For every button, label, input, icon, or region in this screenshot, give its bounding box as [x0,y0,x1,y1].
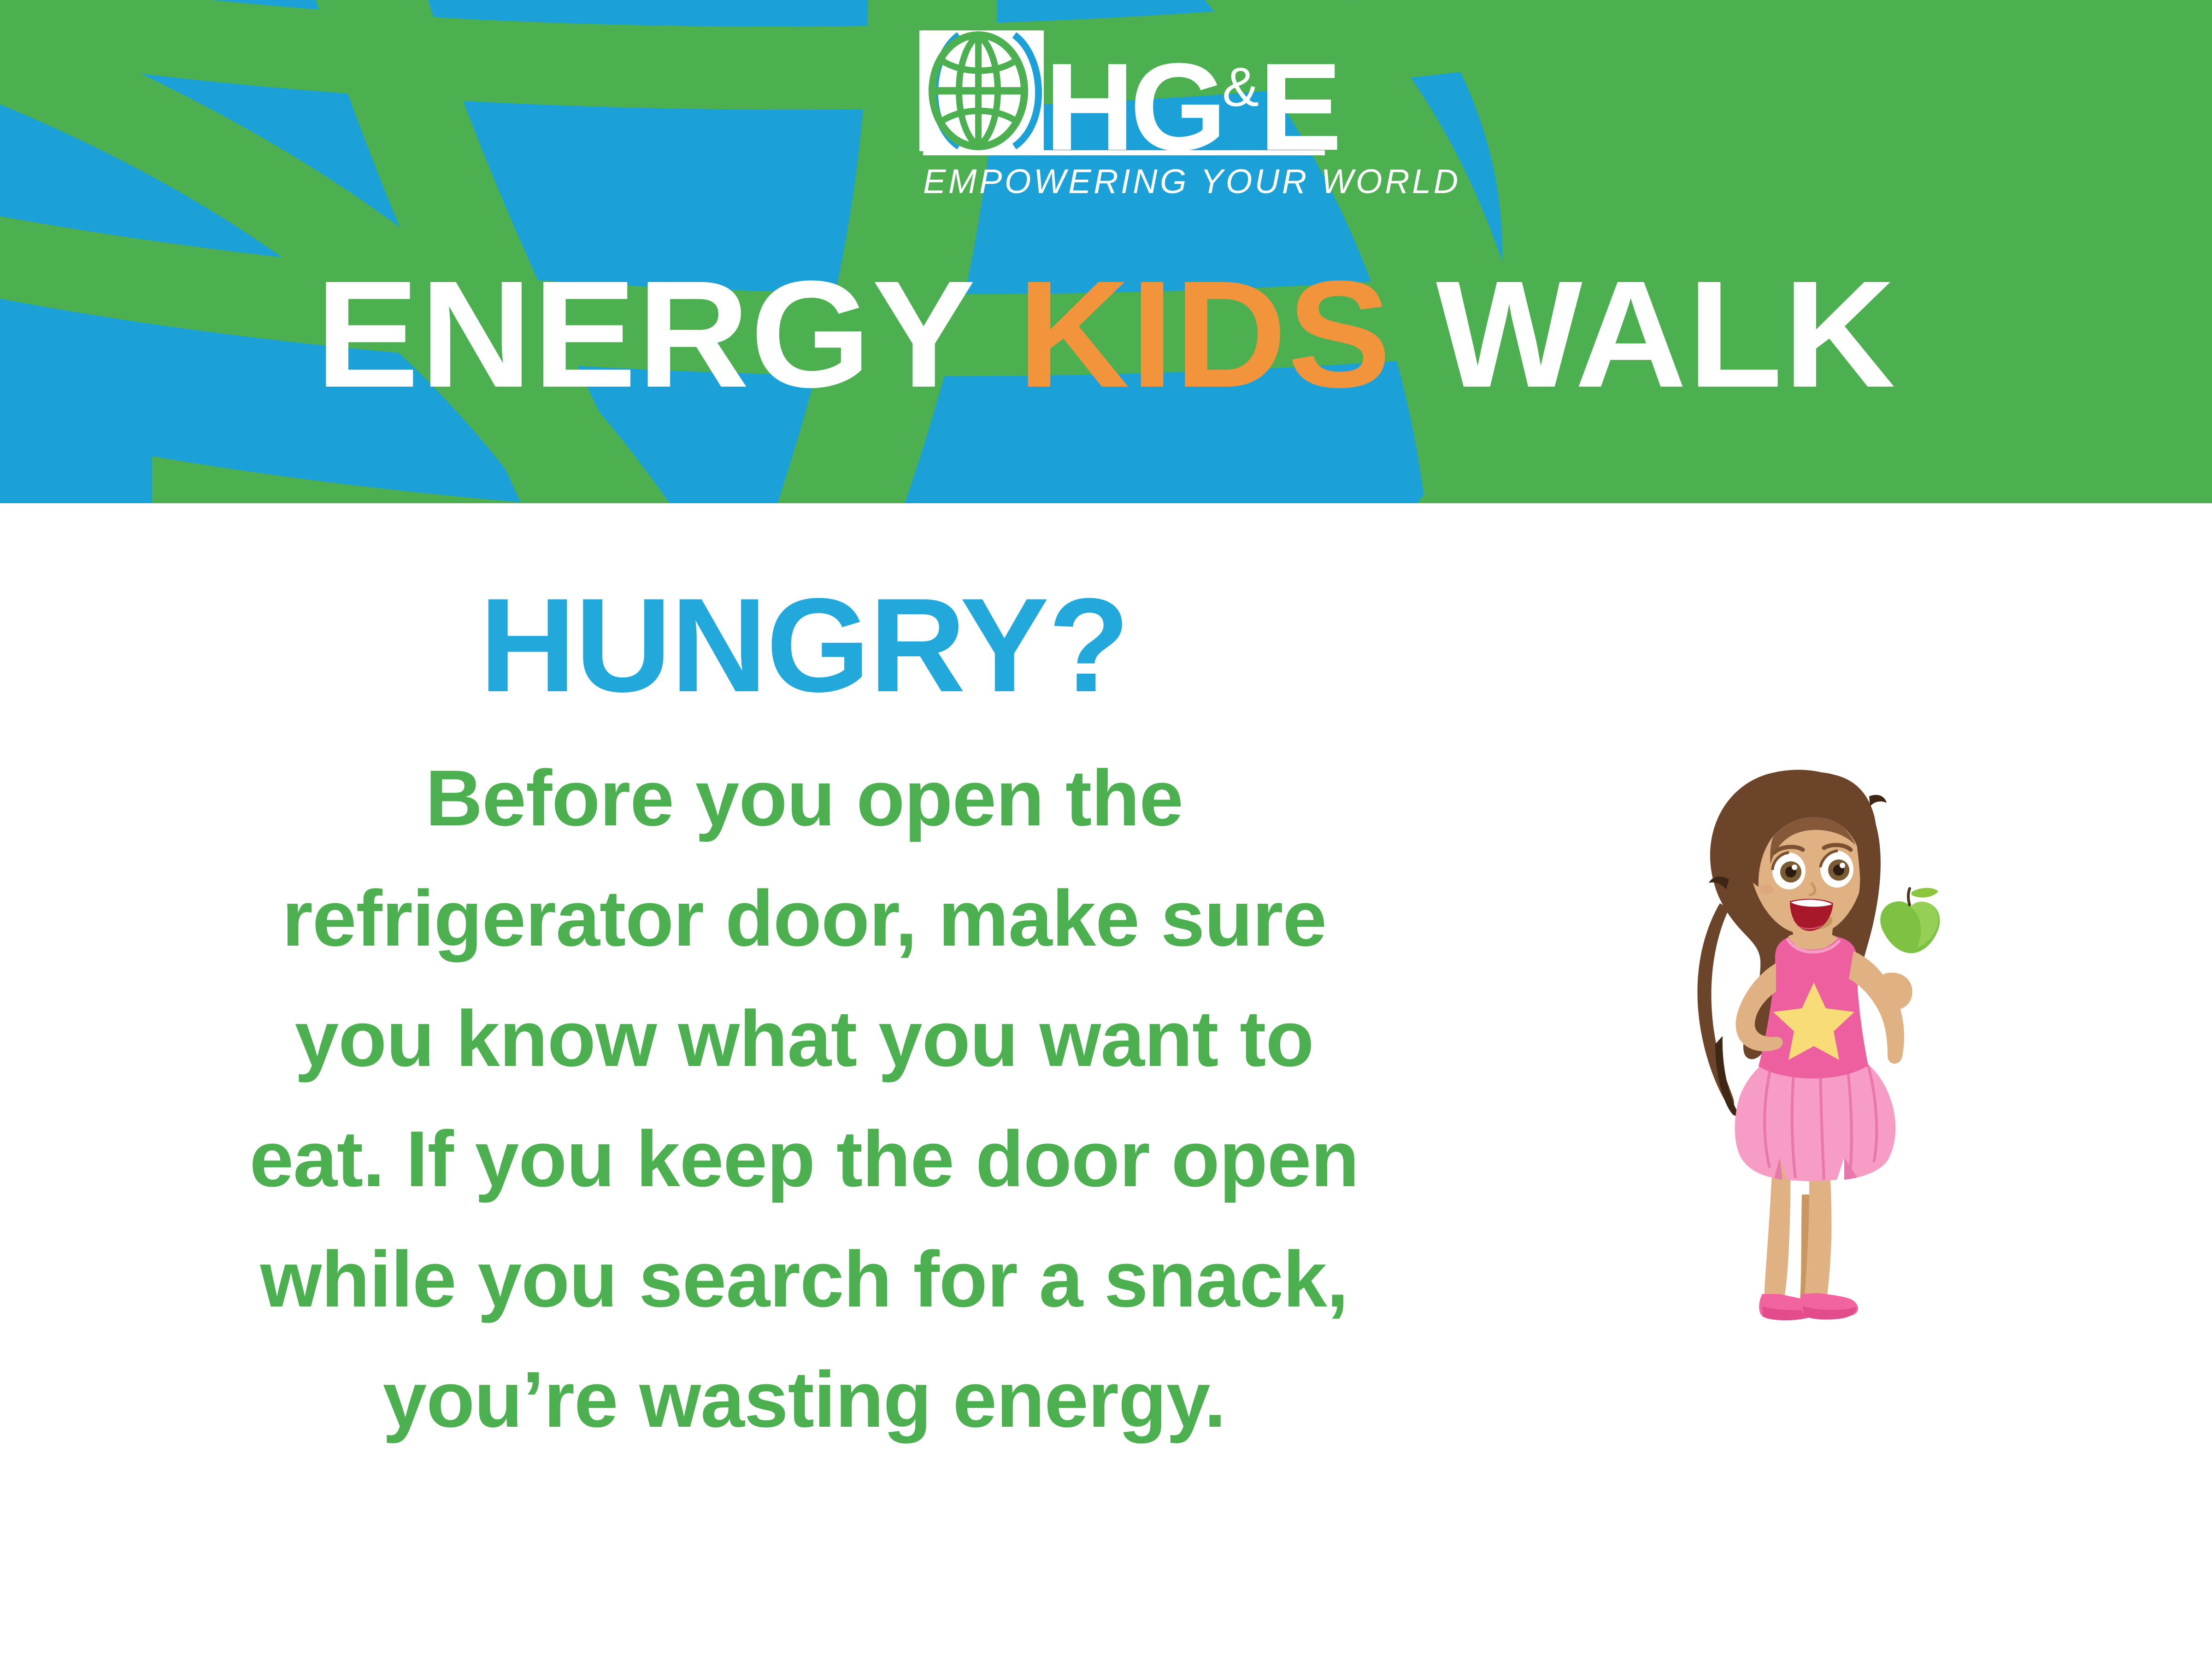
logo-tagline: EMPOWERING YOUR WORLD [923,163,1325,200]
globe-icon [919,30,1044,151]
logo-wordmark-hg: HG [1045,38,1222,176]
body-line: while you search for a snack, [65,1219,1544,1340]
headline: HUNGRY? [65,576,1544,714]
girl-with-apple-illustration [1664,743,1959,1351]
logo-ampersand: & [1222,56,1259,118]
logo-wordmark-e: E [1259,38,1337,176]
girl-with-apple-icon [1664,743,1959,1351]
body-paragraph: Before you open the refrigerator door, m… [65,738,1544,1460]
page-banner: HG&E EMPOWERING YOUR WORLD ENERGY KIDS W… [0,0,2212,503]
page-title: ENERGY KIDS WALK [0,258,2212,410]
title-word-walk: WALK [1392,249,1896,419]
message-column: HUNGRY? Before you open the refrigerator… [65,503,1544,1460]
body-line: Before you open the [65,738,1544,859]
body-line: you’re wasting energy. [65,1340,1544,1460]
hge-logo: HG&E EMPOWERING YOUR WORLD [919,27,1325,197]
body-line: eat. If you keep the door open [65,1099,1544,1219]
content-area: HUNGRY? Before you open the refrigerator… [0,503,2212,1659]
logo-wordmark: HG&E [1045,27,1337,168]
logo-divider [923,150,1325,155]
body-line: refrigerator door, make sure [65,859,1544,979]
body-line: you know what you want to [65,979,1544,1099]
title-word-kids: KIDS [1018,249,1392,419]
title-word-energy: ENERGY [316,249,1018,419]
